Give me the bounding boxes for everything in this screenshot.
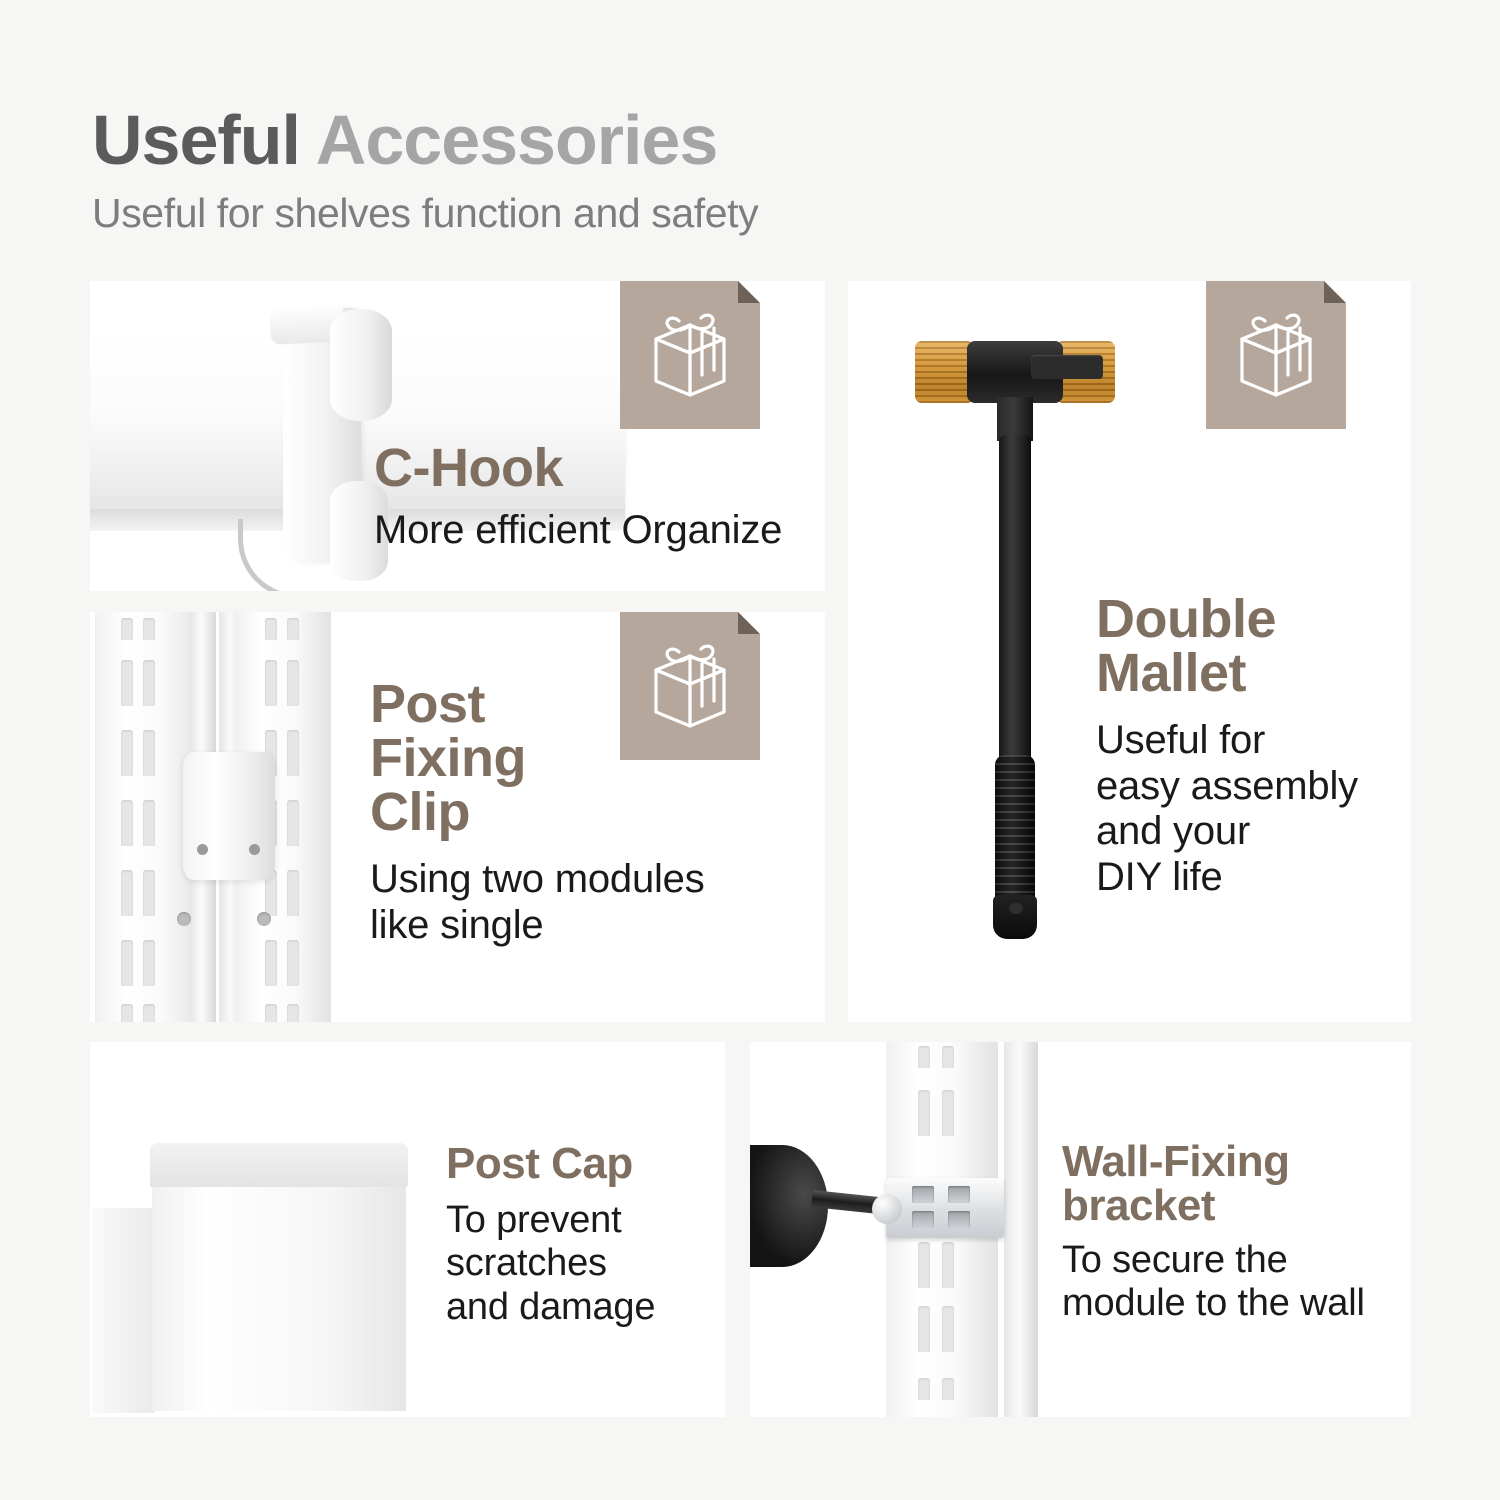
post-slot (143, 870, 155, 916)
body-line: module to the wall (1062, 1282, 1365, 1325)
post-slot (143, 940, 155, 986)
page-title: Useful Accessories (92, 104, 1092, 178)
post-cap-adjacent-post (92, 1208, 154, 1413)
c-hook-text-block: C-Hook More efficient Organize (374, 441, 782, 554)
body-line: like single (370, 903, 705, 949)
wall-fixing-bracket-body: To secure the module to the wall (1062, 1239, 1365, 1326)
c-hook-body: More efficient Organize (374, 508, 782, 554)
mallet-shaft (999, 435, 1031, 765)
mallet-butt (993, 895, 1037, 939)
heading-line: Double (1096, 592, 1358, 646)
post-slot (918, 1090, 930, 1136)
mallet-grip-texture (995, 755, 1035, 915)
post-slot (918, 1242, 930, 1288)
post-hole (257, 912, 271, 926)
double-mallet-text-block: Double Mallet Useful for easy assembly a… (1096, 592, 1358, 900)
post-slot (942, 1046, 954, 1068)
post-fixing-clip-photo (95, 612, 330, 1022)
post-slot (143, 730, 155, 776)
c-hook-heading: C-Hook (374, 441, 782, 495)
mallet-head (967, 341, 1063, 403)
post-slot (942, 1090, 954, 1136)
post-slot (121, 1004, 133, 1022)
post-slot (942, 1242, 954, 1288)
post-slot (143, 1004, 155, 1022)
gift-box-icon (1232, 309, 1320, 401)
badge-corner-fold (738, 612, 760, 634)
body-line: Useful for (1096, 718, 1358, 764)
heading-line: Wall-Fixing (1062, 1140, 1365, 1184)
post-slot (287, 618, 299, 640)
wall-fixing-bracket-heading: Wall-Fixing bracket (1062, 1140, 1365, 1228)
body-line: and your (1096, 809, 1358, 855)
post-slot (265, 618, 277, 640)
wall-fixing-bracket-part (886, 1178, 1004, 1238)
post-fixing-clip-text-block: Post Fixing Clip Using two modules like … (370, 677, 705, 948)
body-line: To secure the (1062, 1239, 1365, 1282)
mallet-grip (995, 755, 1035, 915)
post-fixing-clip-heading: Post Fixing Clip (370, 677, 705, 839)
post-slot (121, 870, 133, 916)
post-fixing-clip-collar (183, 752, 275, 880)
mallet-face-left (915, 341, 971, 403)
title-part-accessories: Accessories (316, 101, 718, 179)
badge-corner-fold (738, 281, 760, 303)
post-slot (121, 618, 133, 640)
post-slot (121, 730, 133, 776)
post-cap-body (152, 1186, 406, 1411)
post-slot (143, 800, 155, 846)
title-part-useful: Useful (92, 101, 316, 179)
body-line: easy assembly (1096, 764, 1358, 810)
post-slot (942, 1306, 954, 1352)
post-slot (287, 940, 299, 986)
post-slot (143, 618, 155, 640)
post-slot (287, 730, 299, 776)
post-slot (918, 1046, 930, 1068)
gift-box-badge (620, 281, 760, 429)
bracket-post-rail (1004, 1042, 1038, 1417)
post-slot (121, 940, 133, 986)
post-slot (287, 660, 299, 706)
double-mallet-body: Useful for easy assembly and your DIY li… (1096, 718, 1358, 900)
post-cap-heading: Post Cap (446, 1142, 655, 1186)
bracket-slot (912, 1186, 934, 1203)
body-line: To prevent (446, 1199, 655, 1242)
post-slot (265, 940, 277, 986)
body-line: and damage (446, 1286, 655, 1329)
post-cap-text-block: Post Cap To prevent scratches and damage (446, 1142, 655, 1329)
post-slot (143, 660, 155, 706)
header: Useful Accessories Useful for shelves fu… (92, 104, 1092, 237)
post-cap-top (150, 1143, 408, 1187)
bracket-slot (948, 1211, 970, 1228)
post-slot (121, 660, 133, 706)
badge-corner-fold (1324, 281, 1346, 303)
post-slot (918, 1378, 930, 1400)
body-line: DIY life (1096, 855, 1358, 901)
body-line: scratches (446, 1242, 655, 1285)
mallet-face-ridges (915, 341, 971, 403)
c-hook-upper-knob (330, 309, 392, 421)
post-cap-body: To prevent scratches and damage (446, 1199, 655, 1329)
double-mallet-heading: Double Mallet (1096, 592, 1358, 700)
clip-screw-hole (197, 844, 208, 855)
post-slot (287, 800, 299, 846)
bracket-slot (948, 1186, 970, 1203)
post-slot (942, 1378, 954, 1400)
heading-line: Fixing (370, 731, 705, 785)
double-mallet-photo (915, 335, 1115, 945)
post-slot (918, 1306, 930, 1352)
post-slot (287, 1004, 299, 1022)
post-slot (265, 660, 277, 706)
post-slot (265, 1004, 277, 1022)
body-line: Using two modules (370, 857, 705, 903)
infographic-page: Useful Accessories Useful for shelves fu… (0, 0, 1500, 1500)
post-slot (121, 800, 133, 846)
mallet-butt-hole (1009, 903, 1023, 914)
heading-line: bracket (1062, 1184, 1365, 1228)
post-hole (177, 912, 191, 926)
c-hook-wire (238, 519, 342, 591)
post-slot (287, 870, 299, 916)
bracket-slot (912, 1211, 934, 1228)
gift-box-badge (1206, 281, 1346, 429)
heading-line: Clip (370, 785, 705, 839)
heading-line: Mallet (1096, 646, 1358, 700)
bracket-screw-head (872, 1194, 902, 1224)
post-fixing-clip-body: Using two modules like single (370, 857, 705, 948)
clip-screw-hole (249, 844, 260, 855)
mallet-head-plate (1031, 355, 1103, 379)
heading-line: Post (370, 677, 705, 731)
page-subtitle: Useful for shelves function and safety (92, 190, 1092, 237)
wall-fixing-bracket-text-block: Wall-Fixing bracket To secure the module… (1062, 1140, 1365, 1326)
gift-box-icon (646, 309, 734, 401)
